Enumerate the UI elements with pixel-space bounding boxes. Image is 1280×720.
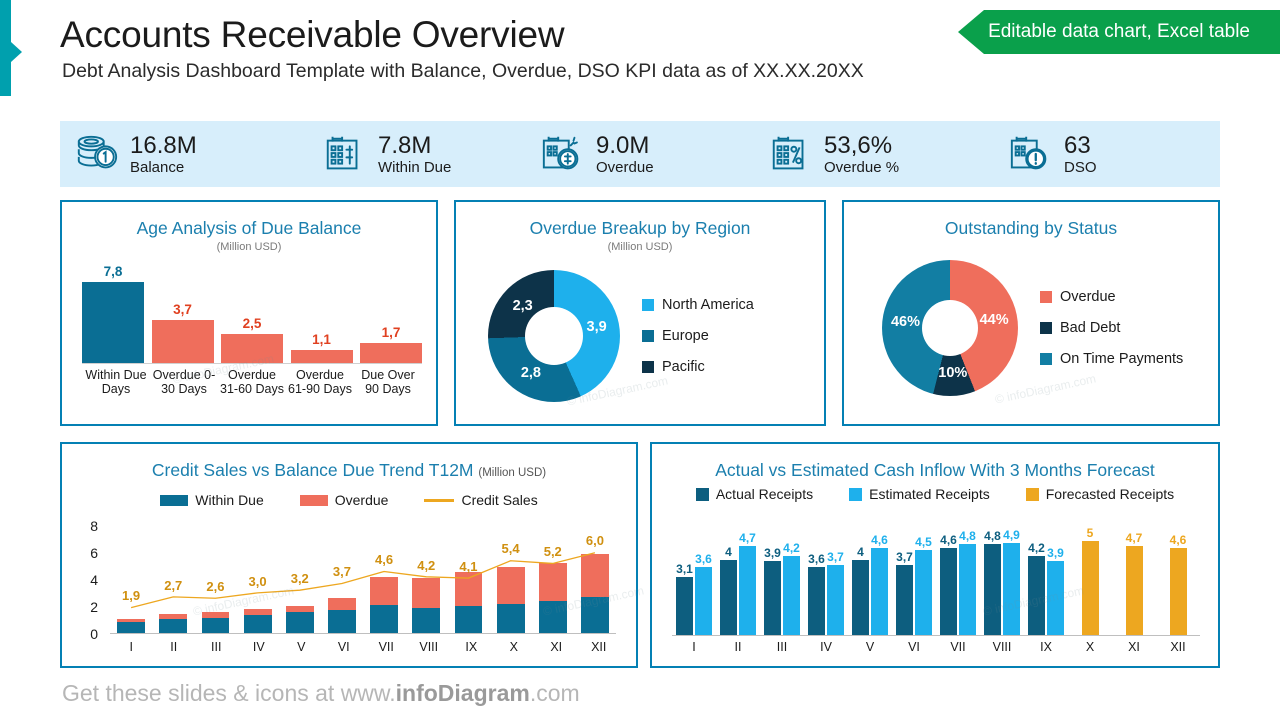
inflow-bar-wrap: 3,1 [676,518,693,635]
footer-prefix: Get these slides & icons at www. [62,680,396,706]
panel-title-cash-inflow: Actual vs Estimated Cash Inflow With 3 M… [652,460,1218,481]
x-axis-label: IX [450,640,493,654]
age-bar [152,320,214,363]
panel-overdue-by-region: Overdue Breakup by Region (Million USD) … [454,200,826,426]
legend-swatch [849,488,862,501]
kpi-value: 7.8M [378,133,451,158]
trend-y-axis: 02468 [80,526,102,634]
inflow-bar-wrap: 4,8 [959,518,976,635]
credit-sales-value-label: 1,9 [122,588,140,603]
inflow-bar-wrap: 4,2 [1028,518,1045,635]
x-axis-label: V [280,640,323,654]
y-axis-tick: 0 [90,626,98,642]
inflow-bar [915,550,932,635]
kpi-label: Overdue % [824,160,899,176]
inflow-value-label: 3,9 [1047,546,1064,560]
credit-sales-value-label: 3,7 [333,564,351,579]
legend-label: Overdue [335,492,389,508]
kpi-strip: 16.8MBalance 7.8MWithin Due 9.0MOverdue … [60,121,1220,187]
status-donut-hole [922,300,978,356]
inflow-bar [984,544,1001,635]
inflow-value-label: 4,6 [940,533,957,547]
legend-item: Estimated Receipts [849,486,990,502]
inflow-bar [1126,546,1143,635]
panel-subtitle-overdue-by-region: (Million USD) [456,241,824,253]
inflow-bar [959,544,976,635]
inflow-bar-wrap: 5 [1082,518,1099,635]
x-axis-label: VIII [980,640,1024,654]
inflow-value-label: 4,6 [1170,533,1187,547]
x-axis-label: IV [238,640,281,654]
credit-sales-value-label: 6,0 [586,533,604,548]
inflow-bar [739,546,756,635]
trend-title-unit: (Million USD) [478,467,546,479]
age-bar [291,350,353,363]
legend-label: North America [662,297,754,313]
ribbon-arrow-icon [958,10,984,54]
inflow-bar-wrap: 3,6 [808,518,825,635]
panel-cash-inflow: Actual vs Estimated Cash Inflow With 3 M… [650,442,1220,668]
inflow-value-label: 4,6 [871,533,888,547]
editable-ribbon-badge: Editable data chart, Excel table [958,10,1280,54]
inflow-bar-wrap: 3,7 [896,518,913,635]
legend-line-marker [424,499,454,502]
inflow-x-labels: IIIIIIIVVVIVIIVIIIIXXXIXII [672,640,1200,654]
inflow-bar-wrap: 4 [852,518,869,635]
inflow-bar-group: 44,6 [848,518,892,635]
donut-slice-label: 2,3 [513,298,533,314]
inflow-bar [1003,543,1020,635]
inflow-bar-group: 4,7 [1112,518,1156,635]
inflow-bar-wrap: 3,6 [695,518,712,635]
age-category-label: Overdue 0-30 Days [150,368,218,397]
calendar-percent-icon [768,132,814,176]
panel-age-analysis: Age Analysis of Due Balance (Million USD… [60,200,438,426]
inflow-value-label: 4,2 [1028,541,1045,555]
inflow-bar-group: 3,63,7 [804,518,848,635]
legend-swatch [642,299,654,311]
kpi-label: DSO [1064,160,1097,176]
inflow-bar-wrap: 4,6 [1170,518,1187,635]
legend-item: Bad Debt [1040,320,1183,336]
inflow-bar-group: 44,7 [716,518,760,635]
inflow-bar-wrap: 4,7 [1126,518,1143,635]
age-bar-column: 1,1 [291,264,353,363]
legend-label: Overdue [1060,289,1116,305]
left-accent-bar [0,0,11,96]
age-category-label: Overdue61-90 Days [286,368,354,397]
calendar-dollar-icon [322,132,368,176]
inflow-bar-wrap: 4,9 [1003,518,1020,635]
age-bar-column: 7,8 [82,264,144,363]
x-axis-label: XII [1156,640,1200,654]
credit-sales-value-label: 4,2 [417,558,435,573]
inflow-bar-group: 4,23,9 [1024,518,1068,635]
inflow-bar-wrap: 4,6 [871,518,888,635]
legend-label: Europe [662,328,709,344]
credit-sales-value-label: 5,4 [502,541,520,556]
inflow-bar-wrap: 4,5 [915,518,932,635]
footer-brand: infoDiagram [396,680,530,706]
kpi-text: 7.8MWithin Due [378,133,451,176]
trend-legend: Within DueOverdueCredit Sales [62,492,636,508]
inflow-value-label: 4 [725,545,732,559]
x-axis-label: XI [1112,640,1156,654]
x-axis-label: V [848,640,892,654]
inflow-bar [827,565,844,635]
inflow-bar-wrap: 4,6 [940,518,957,635]
status-donut-ring: 44%10%46% [882,260,1018,396]
panel-credit-sales-trend: Credit Sales vs Balance Due Trend T12M (… [60,442,638,668]
ribbon-label: Editable data chart, Excel table [984,10,1280,54]
inflow-bar [764,561,781,635]
inflow-bar-wrap: 4,2 [783,518,800,635]
inflow-value-label: 3,6 [695,552,712,566]
donut-slice-label: 46% [891,314,920,330]
credit-sales-value-label: 5,2 [544,544,562,559]
inflow-bar [695,567,712,635]
legend-swatch [160,495,188,506]
legend-item: Forecasted Receipts [1026,486,1174,502]
calendar-bomb-icon [540,132,586,176]
status-donut-chart: 44%10%46% OverdueBad DebtOn Time Payment… [882,260,1183,396]
inflow-bar-wrap: 4,7 [739,518,756,635]
inflow-inner-plot: 3,13,644,73,94,23,63,744,63,74,54,64,84,… [672,518,1200,636]
inflow-value-label: 4,7 [1126,531,1143,545]
legend-item: Overdue [300,492,389,508]
region-donut-hole [525,307,583,365]
legend-item: North America [642,297,754,313]
inflow-plot-area: 3,13,644,73,94,23,63,744,63,74,54,64,84,… [672,518,1200,636]
credit-sales-value-label: 3,0 [249,574,267,589]
age-bar-value-label: 1,1 [312,332,331,347]
kpi-label: Overdue [596,160,654,176]
region-donut-ring: 3,92,82,3 [488,270,620,402]
x-axis-label: II [716,640,760,654]
age-bar-value-label: 2,5 [243,316,262,331]
inflow-value-label: 4 [857,545,864,559]
legend-item: Overdue [1040,289,1183,305]
legend-label: On Time Payments [1060,351,1183,367]
inflow-bar-wrap: 4,8 [984,518,1001,635]
inflow-value-label: 3,1 [676,562,693,576]
inflow-bar [720,560,737,635]
inflow-bar [896,565,913,635]
inflow-value-label: 4,8 [984,529,1001,543]
x-axis-label: VI [323,640,366,654]
x-axis-label: II [153,640,196,654]
legend-item: Pacific [642,359,754,375]
age-category-label: Overdue31-60 Days [218,368,286,397]
inflow-bar-group: 3,74,5 [892,518,936,635]
legend-swatch [1040,353,1052,365]
inflow-value-label: 3,9 [764,546,781,560]
inflow-bar [808,567,825,635]
credit-sales-value-label: 3,2 [291,571,309,586]
inflow-bar-wrap: 3,7 [827,518,844,635]
legend-swatch [642,330,654,342]
inflow-bars: 3,13,644,73,94,23,63,744,63,74,54,64,84,… [672,518,1200,635]
x-axis-label: XII [578,640,621,654]
panel-outstanding-by-status: Outstanding by Status 44%10%46% OverdueB… [842,200,1220,426]
inflow-value-label: 4,9 [1003,528,1020,542]
age-bar [221,334,283,363]
inflow-bar [1170,548,1187,635]
legend-label: Credit Sales [461,492,537,508]
calendar-alert-icon [1008,132,1054,176]
kpi-overdue: 53,6%Overdue % [754,121,994,187]
y-axis-tick: 2 [90,599,98,615]
inflow-bar-wrap: 4 [720,518,737,635]
panel-title-overdue-by-region: Overdue Breakup by Region [456,218,824,239]
kpi-overdue: 9.0MOverdue [526,121,754,187]
credit-sales-value-label: 2,6 [206,579,224,594]
x-axis-label: X [493,640,536,654]
kpi-value: 63 [1064,133,1097,158]
kpi-value: 9.0M [596,133,654,158]
donut-slice-label: 10% [938,365,967,381]
page-title: Accounts Receivable Overview [60,14,564,56]
inflow-bar-group: 3,94,2 [760,518,804,635]
slide-canvas: Accounts Receivable Overview Debt Analys… [0,0,1280,720]
inflow-value-label: 4,7 [739,531,756,545]
age-bar-value-label: 7,8 [104,264,123,279]
donut-slice-label: 44% [980,312,1009,328]
x-axis-label: VIII [408,640,451,654]
legend-item: Within Due [160,492,263,508]
kpi-value: 53,6% [824,133,899,158]
legend-swatch [1040,291,1052,303]
legend-item: Actual Receipts [696,486,813,502]
kpi-balance: 16.8MBalance [60,121,308,187]
panel-title-age-analysis: Age Analysis of Due Balance [62,218,436,239]
legend-label: Estimated Receipts [869,486,990,502]
inflow-bar [871,548,888,635]
kpi-text: 16.8MBalance [130,133,197,176]
inflow-bar-group: 4,6 [1156,518,1200,635]
legend-item: On Time Payments [1040,351,1183,367]
inflow-value-label: 3,7 [827,550,844,564]
inflow-bar-group: 5 [1068,518,1112,635]
trend-x-labels: IIIIIIIVVVIVIIVIIIIXXXIXII [110,640,620,654]
inflow-value-label: 5 [1087,526,1094,540]
x-axis-label: VI [892,640,936,654]
inflow-value-label: 4,5 [915,535,932,549]
kpi-within-due: 7.8MWithin Due [308,121,526,187]
age-category-label: Due Over90 Days [354,368,422,397]
age-bar-value-label: 3,7 [173,302,192,317]
inflow-bar-group: 4,64,8 [936,518,980,635]
legend-swatch [696,488,709,501]
x-axis-label: I [110,640,153,654]
inflow-value-label: 3,7 [896,550,913,564]
footer-suffix: .com [530,680,580,706]
x-axis-label: III [760,640,804,654]
trend-inner-plot: 1,92,72,63,03,23,74,64,24,15,45,26,0 [110,526,616,634]
kpi-label: Balance [130,160,197,176]
trend-plot-area: 02468 1,92,72,63,03,23,74,64,24,15,45,26… [80,526,620,634]
age-bar-column: 1,7 [360,264,422,363]
inflow-bar [940,548,957,635]
inflow-bar [852,560,869,635]
legend-item: Credit Sales [424,492,537,508]
legend-label: Pacific [662,359,705,375]
x-axis-label: III [195,640,238,654]
legend-swatch [642,361,654,373]
page-subtitle: Debt Analysis Dashboard Template with Ba… [62,60,864,83]
kpi-value: 16.8M [130,133,197,158]
trend-title-text: Credit Sales vs Balance Due Trend T12M [152,460,474,480]
legend-swatch [1040,322,1052,334]
age-bar-value-label: 1,7 [382,325,401,340]
age-bar-column: 2,5 [221,264,283,363]
donut-slice-label: 2,8 [521,365,541,381]
legend-swatch [1026,488,1039,501]
x-axis-label: VII [936,640,980,654]
age-bar [360,343,422,363]
x-axis-label: I [672,640,716,654]
inflow-bar-wrap: 3,9 [1047,518,1064,635]
legend-label: Within Due [195,492,263,508]
inflow-bar [676,577,693,636]
inflow-bar-wrap: 3,9 [764,518,781,635]
inflow-value-label: 4,2 [783,541,800,555]
inflow-bar [783,556,800,635]
legend-label: Forecasted Receipts [1046,486,1174,502]
y-axis-tick: 4 [90,572,98,588]
age-category-label: Within DueDays [82,368,150,397]
age-analysis-plot: 7,83,72,51,11,7 [82,264,422,364]
left-accent-chevron-icon [11,42,22,62]
inflow-value-label: 3,6 [808,552,825,566]
panel-subtitle-age-analysis: (Million USD) [62,241,436,253]
age-bar-column: 3,7 [152,264,214,363]
age-bar [82,282,144,363]
status-legend: OverdueBad DebtOn Time Payments [1040,289,1183,367]
region-legend: North AmericaEuropePacific [642,297,754,375]
y-axis-tick: 6 [90,545,98,561]
credit-sales-value-label: 2,7 [164,578,182,593]
coin-stack-icon [74,132,120,176]
inflow-legend: Actual ReceiptsEstimated ReceiptsForecas… [652,486,1218,502]
credit-sales-value-label: 4,1 [459,559,477,574]
x-axis-label: IX [1024,640,1068,654]
region-donut-chart: 3,92,82,3 North AmericaEuropePacific [488,270,754,402]
panel-title-credit-sales-trend: Credit Sales vs Balance Due Trend T12M (… [62,460,636,481]
credit-sales-value-label: 4,6 [375,552,393,567]
inflow-value-label: 4,8 [959,529,976,543]
inflow-bar [1028,556,1045,635]
kpi-text: 63DSO [1064,133,1097,176]
credit-sales-labels: 1,92,72,63,03,23,74,64,24,15,45,26,0 [110,526,616,633]
donut-slice-label: 3,9 [587,319,607,335]
x-axis-label: XI [535,640,578,654]
inflow-bar [1082,541,1099,635]
x-axis-label: VII [365,640,408,654]
kpi-dso: 63DSO [994,121,1194,187]
y-axis-tick: 8 [90,518,98,534]
footer-credit: Get these slides & icons at www.infoDiag… [62,680,580,707]
legend-item: Europe [642,328,754,344]
kpi-text: 53,6%Overdue % [824,133,899,176]
legend-swatch [300,495,328,506]
inflow-bar [1047,561,1064,635]
legend-label: Actual Receipts [716,486,813,502]
panel-title-outstanding-by-status: Outstanding by Status [844,218,1218,239]
kpi-label: Within Due [378,160,451,176]
legend-label: Bad Debt [1060,320,1120,336]
kpi-text: 9.0MOverdue [596,133,654,176]
inflow-bar-group: 4,84,9 [980,518,1024,635]
x-axis-label: X [1068,640,1112,654]
age-analysis-category-labels: Within DueDaysOverdue 0-30 DaysOverdue31… [82,368,422,397]
x-axis-label: IV [804,640,848,654]
inflow-bar-group: 3,13,6 [672,518,716,635]
